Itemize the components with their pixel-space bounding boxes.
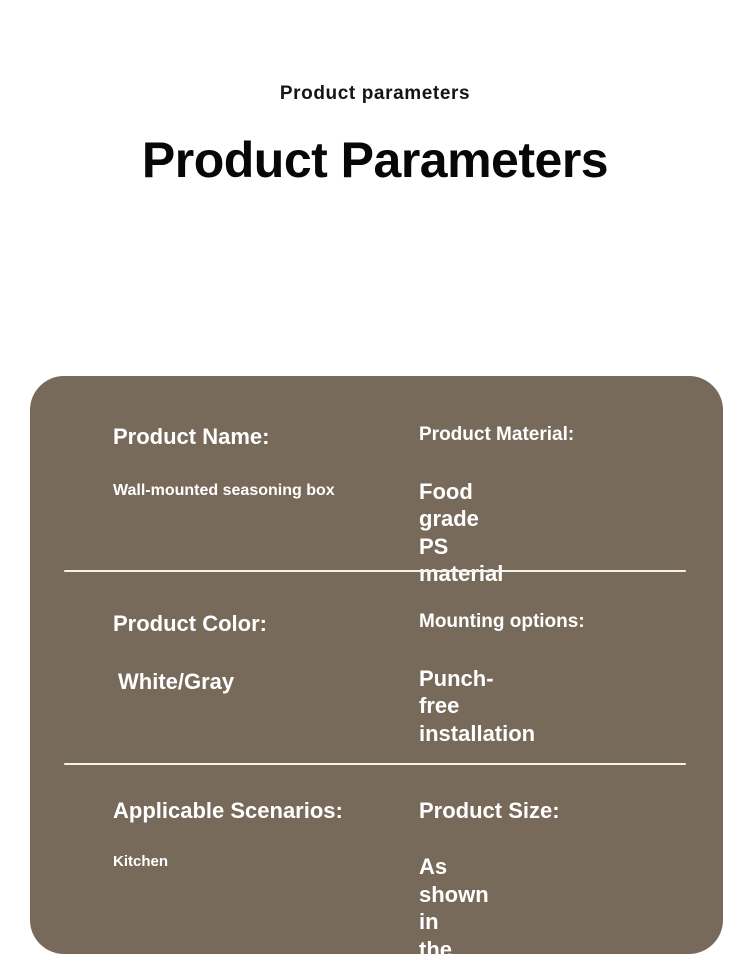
parameter-cell-product-size: Product Size: As shown in the picture be… [30,798,419,954]
parameter-row: Product Name: Wall-mounted seasoning box… [30,424,723,588]
page-title: Product Parameters [0,133,750,187]
row-divider [64,763,686,765]
parameter-row: Applicable Scenarios: Kitchen Product Si… [30,798,723,954]
page-header: Product parameters Product Parameters [0,84,750,187]
parameter-cell-product-material: Product Material: Food grade PS material [30,424,419,588]
parameter-row: Product Color: White/Gray Mounting optio… [30,611,723,747]
page-caption: Product parameters [0,84,750,103]
parameter-rows: Product Name: Wall-mounted seasoning box… [30,376,723,954]
row-divider [64,570,686,572]
parameter-cell-mounting-options: Mounting options: Punch-free installatio… [30,611,419,747]
product-parameters-card: Product Name: Wall-mounted seasoning box… [30,376,723,954]
